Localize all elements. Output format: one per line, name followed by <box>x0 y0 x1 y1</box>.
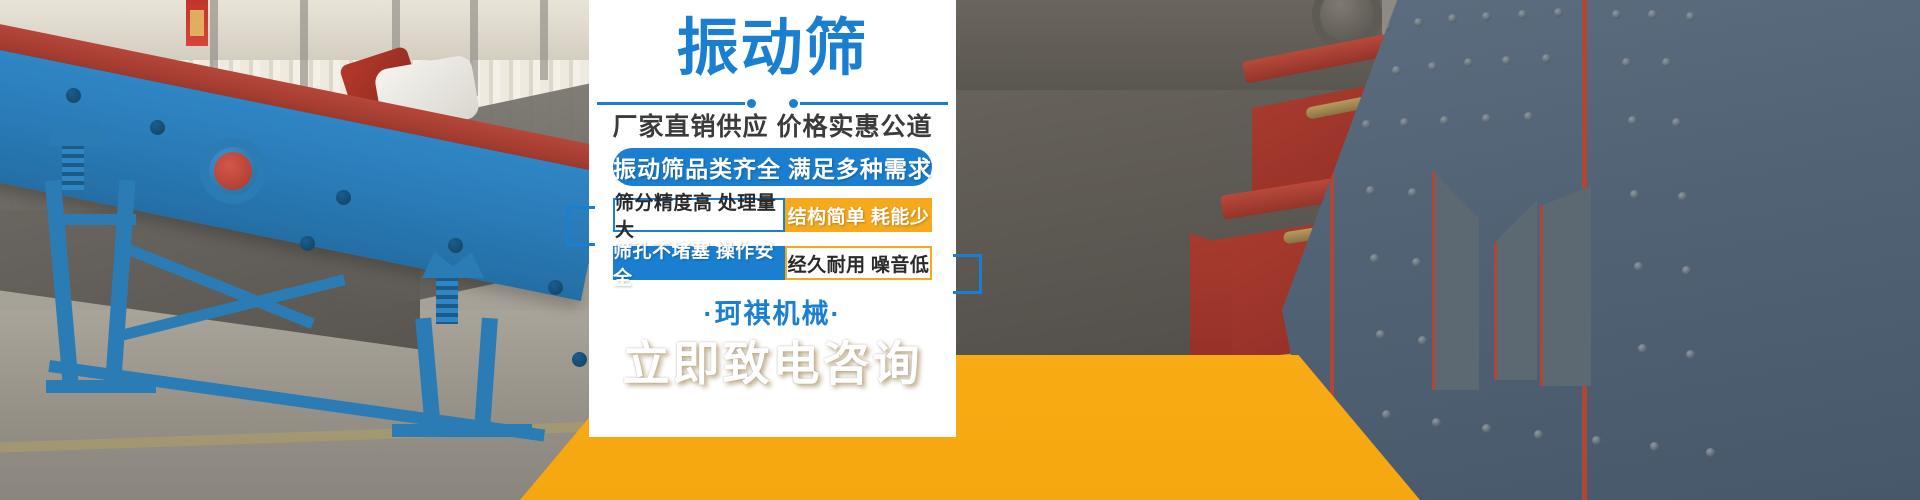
stiffener-fin <box>1432 170 1479 390</box>
bracket-connector-left <box>566 206 595 246</box>
wall-sign <box>186 0 208 46</box>
left-product-photo <box>0 0 600 500</box>
feature-1-left: 筛分精度高 处理量大 <box>613 198 785 232</box>
divider-line-left <box>597 102 745 105</box>
screen-body-side-plate <box>1282 0 1920 500</box>
support-crossbar <box>50 214 136 225</box>
divider-line-right <box>800 102 948 105</box>
feature-2-left: 筛孔不堵塞 操作安全 <box>613 246 785 280</box>
feature-2-right: 经久耐用 噪音低 <box>785 246 932 280</box>
highlight-pill: 振动筛品类齐全 满足多种需求 <box>613 148 932 186</box>
bracket-connector-right <box>953 254 982 294</box>
deck-bolt <box>300 236 315 251</box>
stiffener-fin <box>1540 186 1591 386</box>
product-banner: 振动筛 厂家直销供应 价格实惠公道 振动筛品类齐全 满足多种需求 筛分精度高 处… <box>0 0 1920 500</box>
subtitle: 厂家直销供应 价格实惠公道 <box>589 107 956 143</box>
deck-bolt <box>336 190 351 205</box>
damper-spring <box>436 272 458 324</box>
deck-bolt <box>66 88 81 103</box>
damper-spring <box>62 140 84 190</box>
wall-beam <box>540 0 548 80</box>
deck-bolt <box>548 280 563 295</box>
deck-bolt <box>150 120 165 135</box>
deck-bolt <box>572 352 587 367</box>
feature-row-1: 筛分精度高 处理量大 结构简单 耗能少 <box>613 198 932 232</box>
title-block: 振动筛 <box>589 14 956 84</box>
feature-row-2: 筛孔不堵塞 操作安全 经久耐用 噪音低 <box>613 246 932 280</box>
deck-bolt <box>448 238 463 253</box>
brand-name: ·珂祺机械· <box>589 292 956 331</box>
stiffener-fin <box>1494 200 1537 380</box>
center-text-panel: 振动筛 厂家直销供应 价格实惠公道 振动筛品类齐全 满足多种需求 筛分精度高 处… <box>589 0 956 437</box>
eccentric-shaft-hub <box>200 138 266 204</box>
feature-1-right: 结构简单 耗能少 <box>785 198 932 232</box>
page-title: 振动筛 <box>589 14 956 84</box>
